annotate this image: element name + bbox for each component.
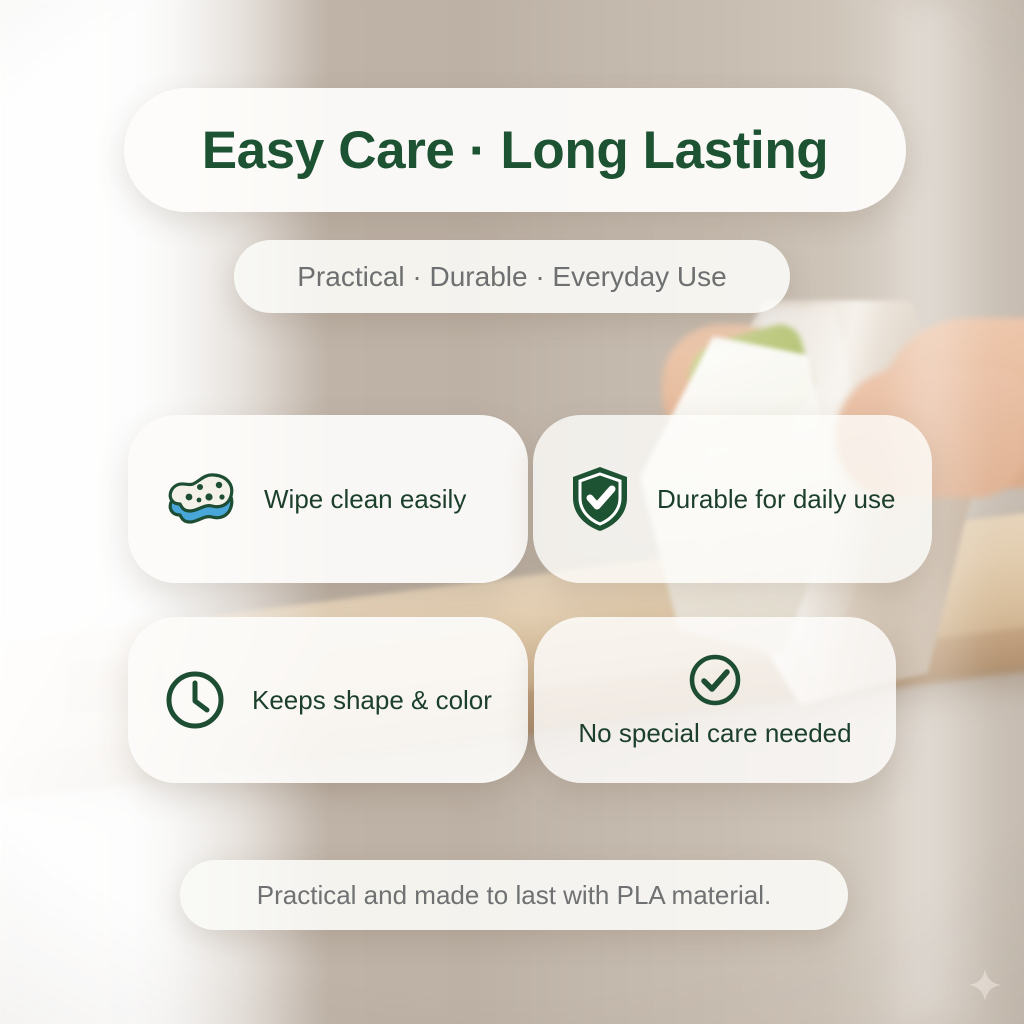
feature-label-durable: Durable for daily use: [657, 484, 895, 515]
feature-card-wipe-clean[interactable]: Wipe clean easily: [128, 415, 528, 583]
page-subtitle: Practical · Durable · Everyday Use: [297, 261, 726, 293]
footer-pill: Practical and made to last with PLA mate…: [180, 860, 848, 930]
feature-label-keeps-shape: Keeps shape & color: [252, 685, 492, 716]
sparkle-icon: [968, 968, 1002, 1002]
feature-card-keeps-shape[interactable]: Keeps shape & color: [128, 617, 528, 783]
circle-check-icon: [687, 652, 743, 708]
feature-label-wipe-clean: Wipe clean easily: [264, 484, 466, 515]
infographic-canvas: Easy Care · Long Lasting Practical · Dur…: [0, 0, 1024, 1024]
feature-card-no-special-care[interactable]: No special care needed: [534, 617, 896, 783]
clock-icon: [164, 669, 226, 731]
shield-check-icon: [569, 465, 631, 533]
page-title: Easy Care · Long Lasting: [202, 120, 829, 181]
feature-label-no-special-care: No special care needed: [578, 718, 851, 749]
sponge-icon: [164, 470, 238, 528]
subtitle-pill: Practical · Durable · Everyday Use: [234, 240, 790, 313]
footer-text: Practical and made to last with PLA mate…: [257, 880, 771, 911]
title-pill: Easy Care · Long Lasting: [124, 88, 906, 212]
feature-card-durable[interactable]: Durable for daily use: [533, 415, 932, 583]
